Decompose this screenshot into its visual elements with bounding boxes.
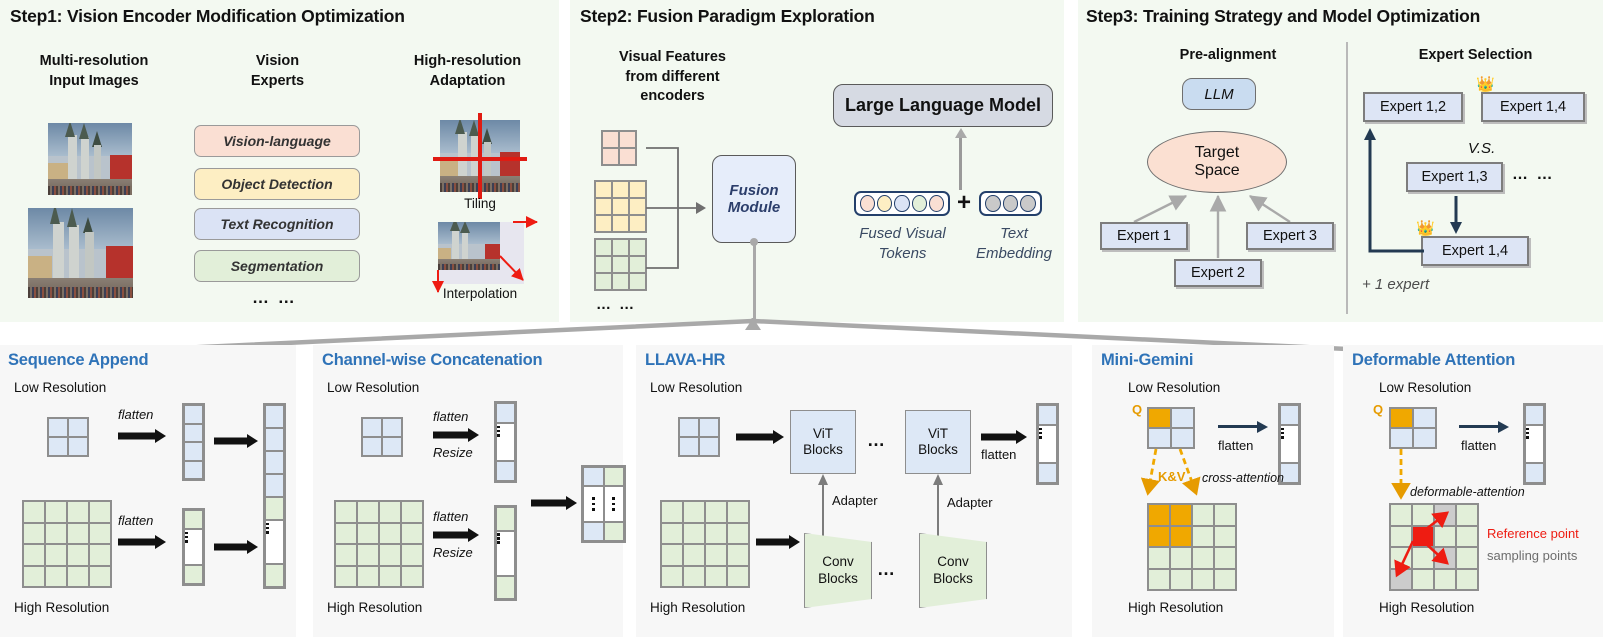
- high-res-grid: [22, 500, 112, 588]
- fusion-connector-line: [753, 242, 756, 322]
- feature-grids-more: … …: [596, 296, 636, 313]
- feature-grid-2x2: [601, 130, 637, 166]
- vision-expert-segmentation[interactable]: Segmentation: [194, 250, 360, 282]
- expert-selection-down-arrow: [1446, 196, 1466, 234]
- token-dot: [985, 195, 1001, 212]
- expert-2-box[interactable]: Expert 2: [1174, 259, 1262, 287]
- fusion-module-box[interactable]: Fusion Module: [712, 155, 796, 243]
- expert-to-target-arrows: [1078, 0, 1603, 322]
- sampling-point-arrows: [1343, 345, 1603, 637]
- cross-attention-arrows: [1092, 345, 1334, 637]
- flatten-label-high: flatten: [433, 509, 468, 524]
- resize-label-low: Resize: [433, 445, 473, 460]
- expert-1-box[interactable]: Expert 1: [1100, 222, 1188, 250]
- cross-attention-label: cross-attention: [1202, 471, 1284, 485]
- input-image-high-res: [28, 208, 133, 298]
- large-language-model-box[interactable]: Large Language Model: [833, 84, 1053, 127]
- token-dot: [1020, 195, 1036, 212]
- expert-box-label: Expert 2: [1191, 265, 1245, 281]
- expert-box-label: Expert 1,2: [1380, 99, 1446, 115]
- llava-hr-panel: LLAVA-HR Low Resolution High Resolution …: [636, 345, 1072, 637]
- channel-wise-concatenation-panel: Channel-wise Concatenation Low Resolutio…: [313, 345, 623, 637]
- text-embedding-label: Text Embedding: [968, 224, 1060, 263]
- expert-selection-more: … …: [1512, 166, 1554, 184]
- token-dot: [912, 195, 927, 212]
- tiling-grid-vertical: [478, 113, 482, 199]
- high-res-token-strip: [182, 508, 205, 586]
- interpolation-label: Interpolation: [420, 286, 540, 301]
- sequence-append-title: Sequence Append: [8, 351, 148, 370]
- token-dot: [1003, 195, 1019, 212]
- text-embedding-bar: [979, 191, 1042, 216]
- step2-title: Step2: Fusion Paradigm Exploration: [580, 6, 875, 27]
- expert-selection-winner-box[interactable]: Expert 1,4: [1421, 236, 1529, 266]
- low-res-token-strip: [182, 403, 205, 481]
- interpolation-arrows: [425, 208, 540, 294]
- resize-label-high: Resize: [433, 545, 473, 560]
- step2-visual-features-heading: Visual Features from different encoders: [580, 48, 765, 107]
- expert-3-box[interactable]: Expert 3: [1246, 222, 1334, 250]
- expert-selection-top-right-box[interactable]: Expert 1,4: [1481, 92, 1585, 122]
- conv-blocks-ellipsis: …: [877, 559, 897, 580]
- high-resolution-label: High Resolution: [327, 600, 422, 615]
- expert-box-label: Expert 1,4: [1500, 99, 1566, 115]
- versus-label: V.S.: [1468, 140, 1495, 157]
- feature-grid-3x3-yellow: [594, 180, 647, 233]
- expert-selection-top-left-box[interactable]: Expert 1,2: [1363, 92, 1463, 122]
- conv-blocks-label: Conv Blocks: [933, 554, 973, 586]
- expert-box-label: Expert 3: [1263, 228, 1317, 244]
- step1-column-heading-vision-experts: Vision Experts: [195, 52, 360, 91]
- low-resolution-label: Low Resolution: [327, 380, 419, 395]
- conv-blocks-label: Conv Blocks: [818, 554, 858, 586]
- high-res-grid: [660, 500, 750, 588]
- high-res-token-strip: [494, 505, 517, 601]
- step3-panel: Step3: Training Strategy and Model Optim…: [1078, 0, 1603, 322]
- vision-expert-text-recognition[interactable]: Text Recognition: [194, 208, 360, 240]
- expert-box-label: Expert 1: [1117, 228, 1171, 244]
- tokens-to-llm-arrow: [955, 128, 967, 190]
- plus-one-expert-label: + 1 expert: [1362, 276, 1429, 293]
- flatten-label-low: flatten: [118, 407, 153, 422]
- step1-column-heading-hr-adaptation: High-resolution Adaptation: [385, 52, 550, 91]
- vision-experts-more: … …: [252, 288, 297, 308]
- token-dot: [860, 195, 875, 212]
- fusion-module-label: Fusion Module: [728, 182, 781, 216]
- low-res-grid: [361, 417, 403, 457]
- channel-wise-concatenation-title: Channel-wise Concatenation: [322, 351, 542, 370]
- vision-expert-label: Segmentation: [231, 258, 324, 274]
- low-resolution-label: Low Resolution: [14, 380, 106, 395]
- token-dot: [894, 195, 909, 212]
- expert-selection-feedback-arrow: [1364, 120, 1434, 265]
- conv-blocks-box-2[interactable]: Conv Blocks: [919, 533, 987, 608]
- token-dot: [929, 195, 944, 212]
- high-res-grid: [334, 500, 424, 588]
- vision-expert-label: Text Recognition: [220, 216, 333, 232]
- expert-box-label: Expert 1,4: [1442, 243, 1508, 259]
- appended-sequence-strip: [263, 403, 286, 589]
- vision-expert-vision-language[interactable]: Vision-language: [194, 125, 360, 157]
- vision-expert-label: Vision-language: [223, 133, 331, 149]
- high-resolution-label: High Resolution: [14, 600, 109, 615]
- sequence-append-panel: Sequence Append Low Resolution High Reso…: [0, 345, 296, 637]
- high-res-grid-with-kv: [1147, 503, 1237, 591]
- feature-grid-3x3-green: [594, 238, 647, 291]
- vision-expert-label: Object Detection: [221, 176, 332, 192]
- low-res-token-strip: [494, 401, 517, 483]
- token-dot: [877, 195, 892, 212]
- sampling-points-legend: sampling points: [1487, 548, 1577, 563]
- low-res-grid: [47, 417, 89, 457]
- flatten-label-low: flatten: [433, 409, 468, 424]
- step1-panel: Step1: Vision Encoder Modification Optim…: [0, 0, 559, 322]
- key-value-label: K&V: [1158, 469, 1185, 484]
- llm-box-label: Large Language Model: [845, 95, 1041, 116]
- mini-gemini-panel: Mini-Gemini Low Resolution High Resoluti…: [1092, 345, 1334, 637]
- tiling-grid-horizontal: [433, 157, 527, 161]
- input-image-low-res: [48, 123, 132, 195]
- vision-expert-object-detection[interactable]: Object Detection: [194, 168, 360, 200]
- crown-icon: 👑: [1476, 77, 1495, 92]
- fused-visual-tokens-bar: [854, 191, 950, 216]
- step2-panel: Step2: Fusion Paradigm Exploration Visua…: [570, 0, 1064, 322]
- flatten-label-high: flatten: [118, 513, 153, 528]
- deformable-attention-panel: Deformable Attention Low Resolution High…: [1343, 345, 1603, 637]
- adapter-label-2: Adapter: [947, 495, 993, 510]
- conv-blocks-box-1[interactable]: Conv Blocks: [804, 533, 872, 608]
- fused-visual-tokens-label: Fused Visual Tokens: [840, 224, 965, 263]
- plus-sign: +: [957, 189, 971, 217]
- step1-title: Step1: Vision Encoder Modification Optim…: [10, 6, 405, 27]
- adapter-label-1: Adapter: [832, 493, 878, 508]
- step1-column-heading-input-images: Multi-resolution Input Images: [14, 52, 174, 91]
- reference-point-legend: Reference point: [1487, 526, 1579, 541]
- concatenated-strip: [581, 465, 626, 543]
